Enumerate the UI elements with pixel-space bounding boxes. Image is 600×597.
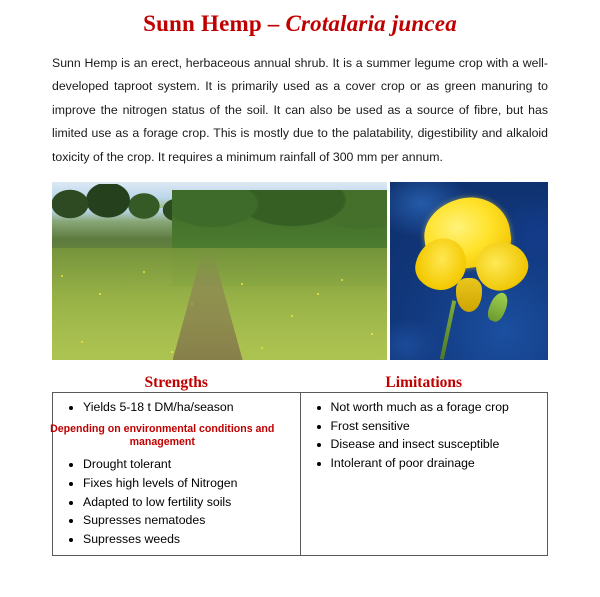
list-item: Fixes high levels of Nitrogen — [83, 474, 300, 493]
list-item: Supresses nematodes — [83, 511, 300, 530]
table-row: Yields 5-18 t DM/ha/season Depending on … — [53, 392, 548, 555]
sunn-hemp-field-photo — [52, 182, 387, 360]
page-title-common-name: Sunn Hemp – — [143, 11, 285, 36]
strengths-note: Depending on environmental conditions an… — [41, 423, 300, 451]
strengths-list-continued: Drought tolerant Fixes high levels of Ni… — [53, 455, 300, 548]
document-page: Sunn Hemp – Crotalaria juncea Sunn Hemp … — [0, 10, 600, 597]
page-title-scientific-name: Crotalaria juncea — [285, 11, 456, 36]
list-item: Adapted to low fertility soils — [83, 493, 300, 512]
list-item: Supresses weeds — [83, 530, 300, 549]
strengths-limitations-table: Strengths Limitations Yields 5-18 t DM/h… — [52, 374, 548, 556]
page-title: Sunn Hemp – Crotalaria juncea — [52, 10, 548, 38]
limitations-cell: Not worth much as a forage crop Frost se… — [300, 392, 548, 555]
list-item: Frost sensitive — [331, 417, 548, 436]
limitations-list: Not worth much as a forage crop Frost se… — [301, 398, 548, 473]
strengths-heading: Strengths — [53, 374, 301, 393]
table-header-row: Strengths Limitations — [53, 374, 548, 393]
list-item: Not worth much as a forage crop — [331, 398, 548, 417]
intro-paragraph: Sunn Hemp is an erect, herbaceous annual… — [52, 52, 548, 170]
strengths-cell: Yields 5-18 t DM/ha/season Depending on … — [53, 392, 301, 555]
strengths-list: Yields 5-18 t DM/ha/season — [53, 398, 300, 417]
list-item: Disease and insect susceptible — [331, 435, 548, 454]
list-item: Intolerant of poor drainage — [331, 454, 548, 473]
sunn-hemp-flower-photo — [390, 182, 548, 360]
list-item: Drought tolerant — [83, 455, 300, 474]
list-item: Yields 5-18 t DM/ha/season — [83, 398, 300, 417]
image-row — [52, 182, 548, 360]
limitations-heading: Limitations — [300, 374, 548, 393]
